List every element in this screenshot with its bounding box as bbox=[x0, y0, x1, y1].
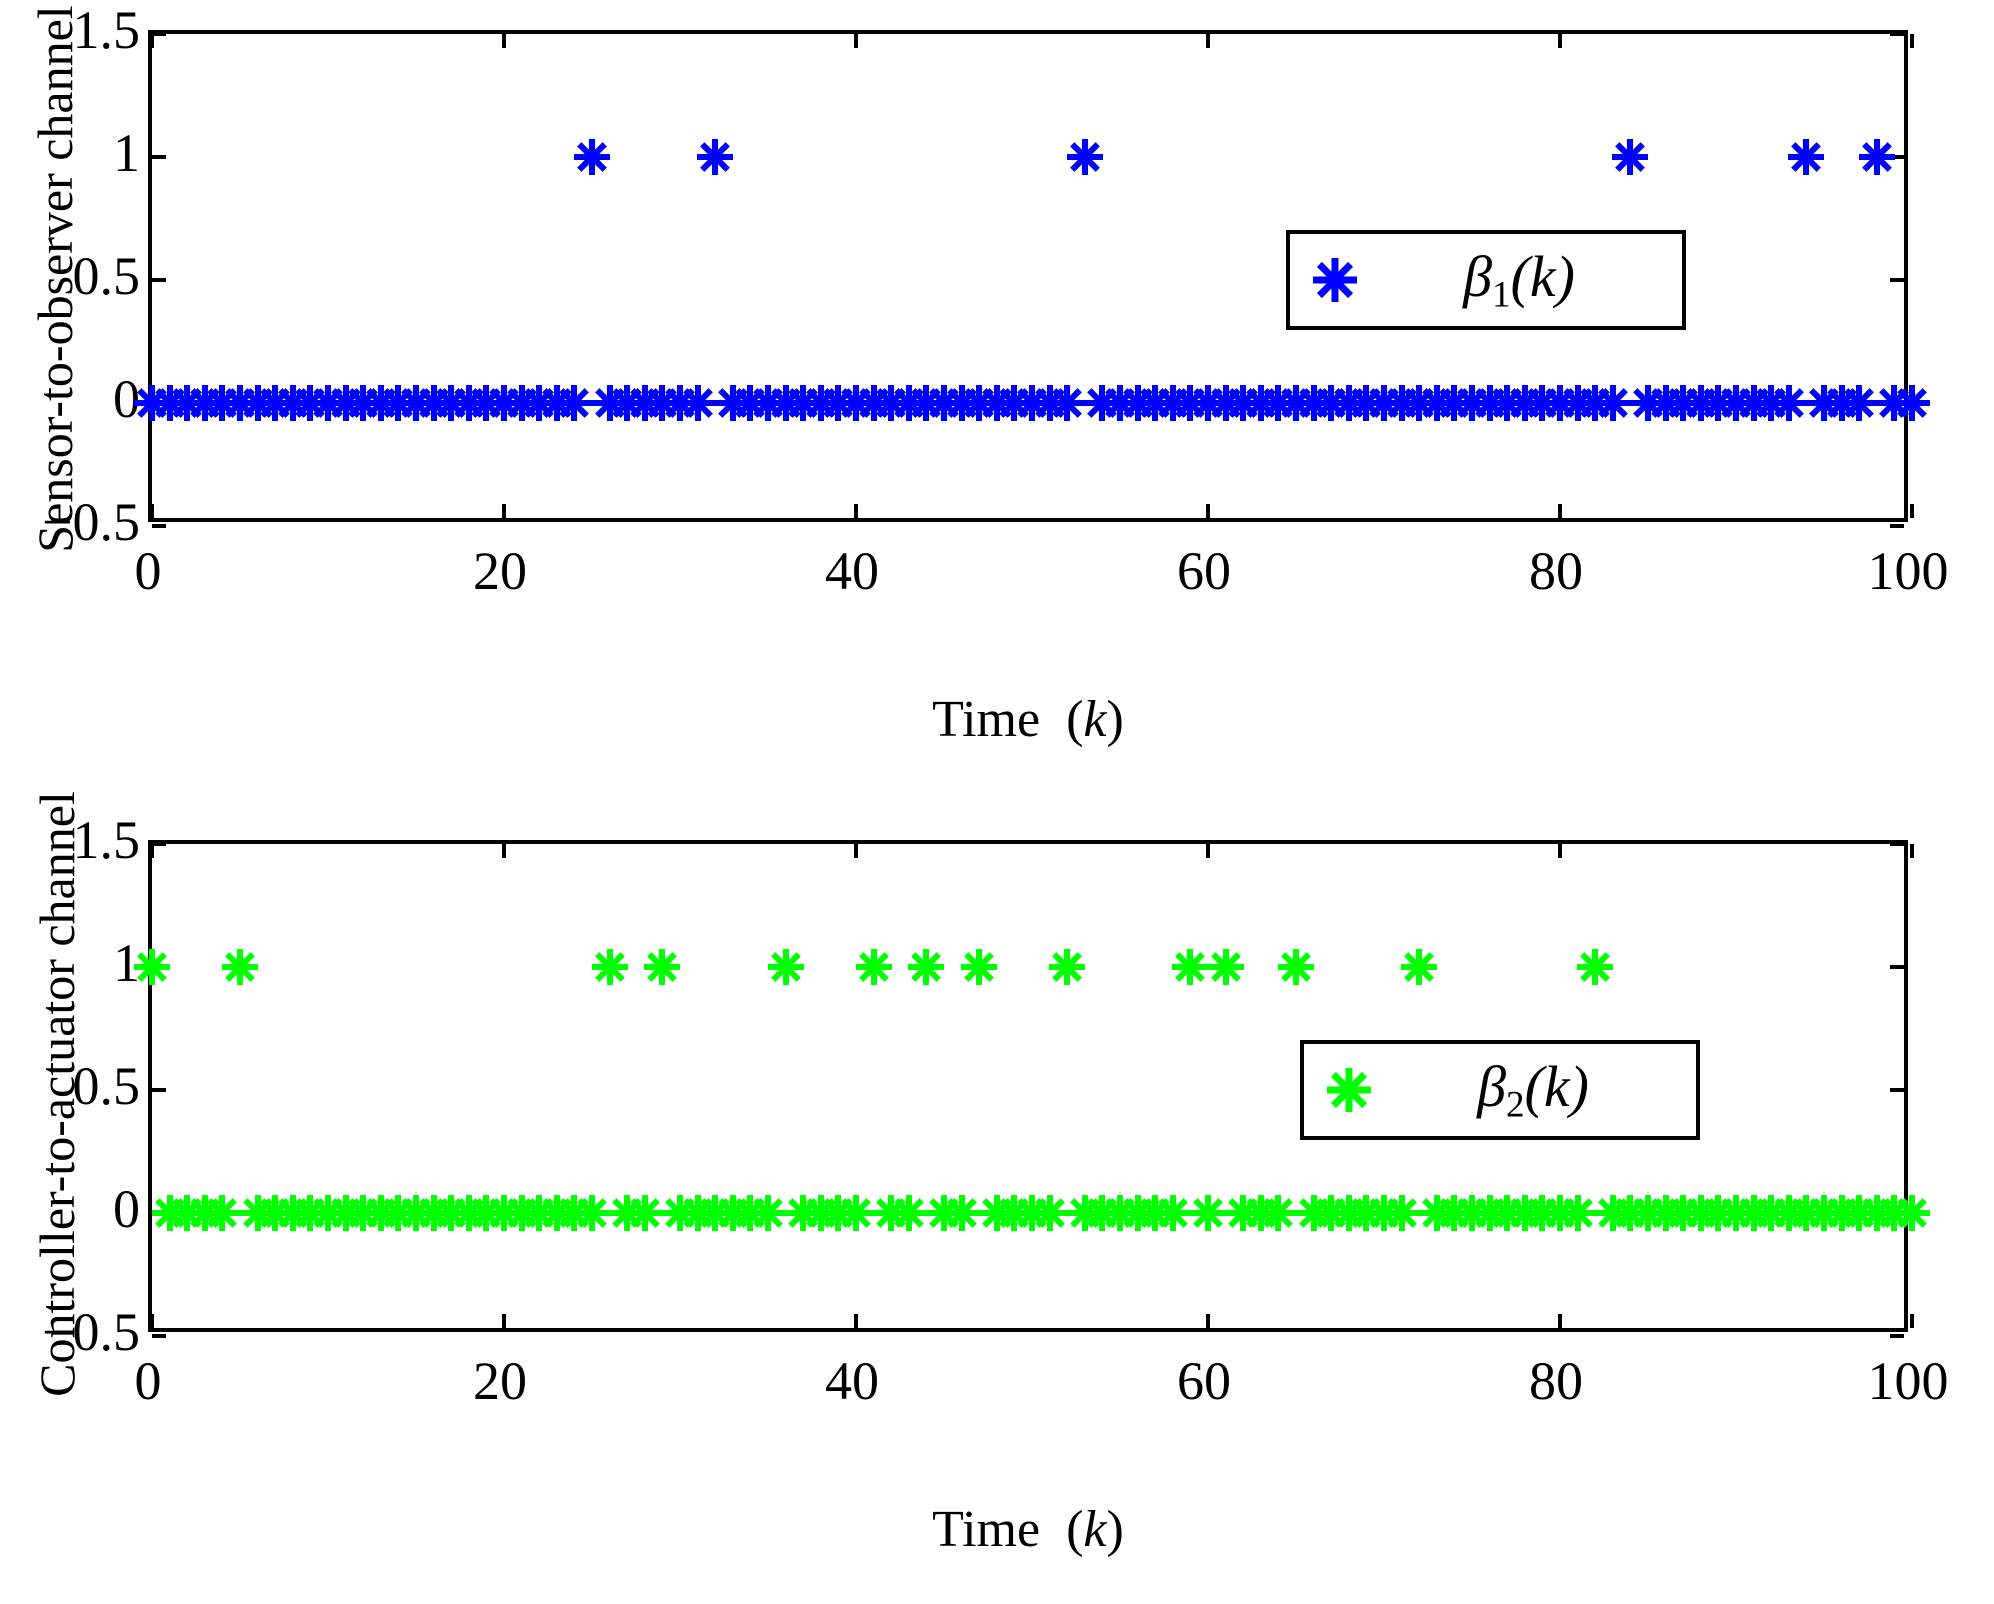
data-point bbox=[610, 967, 611, 968]
x-axis-label-1: Time (k) bbox=[148, 690, 1908, 749]
asterisk-icon bbox=[1048, 384, 1086, 422]
legend-sub-2: 2 bbox=[1506, 1085, 1525, 1126]
y-tick-label: −0.5 bbox=[42, 495, 140, 549]
data-point bbox=[1877, 157, 1878, 158]
asterisk-icon bbox=[1400, 948, 1438, 986]
y-tick-mark bbox=[1890, 1088, 1904, 1092]
x-tick-mark bbox=[1206, 504, 1210, 518]
x-tick-mark bbox=[1558, 844, 1562, 858]
asterisk-icon bbox=[1326, 1067, 1372, 1113]
asterisk-icon bbox=[1840, 384, 1878, 422]
asterisk-icon bbox=[1787, 138, 1825, 176]
x-tick-label: 40 bbox=[825, 1354, 879, 1408]
x-tick-mark bbox=[854, 1314, 858, 1328]
asterisk-icon bbox=[1189, 1194, 1227, 1232]
asterisk-icon bbox=[1259, 1194, 1297, 1232]
x-axis-label-main-2: Time bbox=[932, 1501, 1040, 1558]
asterisk-icon bbox=[1893, 384, 1931, 422]
asterisk-icon bbox=[591, 948, 629, 986]
data-point bbox=[592, 157, 593, 158]
x-tick-mark bbox=[502, 504, 506, 518]
x-axis-label-2: Time (k) bbox=[148, 1500, 1908, 1559]
x-tick-mark bbox=[150, 1314, 154, 1328]
asterisk-icon bbox=[1312, 257, 1358, 303]
asterisk-icon bbox=[749, 1194, 787, 1232]
x-tick-mark bbox=[1910, 1314, 1914, 1328]
x-tick-mark bbox=[502, 1314, 506, 1328]
y-tick-label: 1 bbox=[113, 126, 140, 180]
x-tick-mark bbox=[1558, 504, 1562, 518]
asterisk-icon bbox=[767, 948, 805, 986]
asterisk-icon bbox=[1576, 948, 1614, 986]
x-axis-label-var-2: k bbox=[1083, 1501, 1106, 1558]
asterisk-icon bbox=[855, 948, 893, 986]
x-tick-mark bbox=[1206, 844, 1210, 858]
data-point bbox=[1208, 1213, 1209, 1214]
asterisk-icon bbox=[133, 948, 171, 986]
y-tick-mark bbox=[1890, 1334, 1904, 1338]
y-tick-mark bbox=[152, 155, 166, 159]
asterisk-icon bbox=[1207, 948, 1245, 986]
data-point bbox=[1859, 403, 1860, 404]
x-axis-label-var-1: k bbox=[1083, 691, 1106, 748]
x-tick-label: 100 bbox=[1868, 544, 1949, 598]
legend-beta-1: β bbox=[1463, 244, 1492, 309]
asterisk-icon bbox=[1171, 948, 1209, 986]
asterisk-icon bbox=[1066, 138, 1104, 176]
x-tick-mark bbox=[1558, 1314, 1562, 1328]
x-tick-mark bbox=[150, 504, 154, 518]
asterisk-icon bbox=[960, 948, 998, 986]
asterisk-icon bbox=[203, 1194, 241, 1232]
x-tick-label: 40 bbox=[825, 544, 879, 598]
x-axis-label-paren-close-1: ) bbox=[1107, 691, 1124, 748]
data-point bbox=[1419, 967, 1420, 968]
y-tick-mark bbox=[152, 278, 166, 282]
asterisk-icon bbox=[1154, 1194, 1192, 1232]
data-point bbox=[1278, 1213, 1279, 1214]
asterisk-icon bbox=[696, 138, 734, 176]
x-tick-label: 20 bbox=[473, 544, 527, 598]
data-point bbox=[1067, 967, 1068, 968]
data-point bbox=[715, 157, 716, 158]
asterisk-icon bbox=[837, 1194, 875, 1232]
x-tick-mark bbox=[1910, 504, 1914, 518]
x-tick-mark bbox=[150, 34, 154, 48]
asterisk-icon bbox=[626, 1194, 664, 1232]
x-tick-mark bbox=[150, 844, 154, 858]
asterisk-icon bbox=[1893, 1194, 1931, 1232]
y-tick-mark bbox=[1890, 32, 1904, 36]
legend-marker-2 bbox=[1304, 1044, 1394, 1136]
data-point bbox=[1613, 403, 1614, 404]
y-tick-label: 1.5 bbox=[73, 3, 141, 57]
data-point bbox=[1226, 967, 1227, 968]
asterisk-icon bbox=[1594, 384, 1632, 422]
x-tick-mark bbox=[854, 844, 858, 858]
x-tick-label: 0 bbox=[135, 1354, 162, 1408]
y-tick-mark bbox=[152, 1334, 166, 1338]
legend-arg-2: (k) bbox=[1525, 1054, 1589, 1119]
data-point bbox=[856, 1213, 857, 1214]
data-point bbox=[1912, 403, 1913, 404]
asterisk-icon bbox=[221, 948, 259, 986]
legend-label-2: β2(k) bbox=[1394, 1053, 1696, 1126]
asterisk-icon bbox=[679, 384, 717, 422]
asterisk-icon bbox=[573, 1194, 611, 1232]
plot-area-1: β1(k) bbox=[148, 30, 1908, 522]
y-tick-label: 1.5 bbox=[73, 813, 141, 867]
data-point bbox=[1402, 1213, 1403, 1214]
data-point bbox=[926, 967, 927, 968]
x-tick-mark bbox=[1206, 1314, 1210, 1328]
data-point bbox=[1173, 1213, 1174, 1214]
y-tick-label: 0.5 bbox=[73, 1059, 141, 1113]
asterisk-icon bbox=[643, 948, 681, 986]
legend-arg-1: (k) bbox=[1511, 244, 1575, 309]
data-point bbox=[1595, 967, 1596, 968]
asterisk-icon bbox=[1277, 948, 1315, 986]
data-point bbox=[768, 1213, 769, 1214]
x-tick-label: 80 bbox=[1529, 544, 1583, 598]
data-point bbox=[645, 1213, 646, 1214]
data-point bbox=[662, 967, 663, 968]
y-tick-label: −0.5 bbox=[42, 1305, 140, 1359]
data-point bbox=[1296, 967, 1297, 968]
panel-controller-to-actuator: Controller-to-actuator channel −0.500.51… bbox=[0, 810, 1994, 1600]
asterisk-icon bbox=[1858, 138, 1896, 176]
x-tick-mark bbox=[1206, 34, 1210, 48]
y-tick-mark bbox=[152, 524, 166, 528]
data-point bbox=[592, 1213, 593, 1214]
x-tick-mark bbox=[502, 34, 506, 48]
x-tick-label: 100 bbox=[1868, 1354, 1949, 1408]
data-point bbox=[1630, 157, 1631, 158]
asterisk-icon bbox=[573, 138, 611, 176]
x-axis-label-paren-open-1: ( bbox=[1053, 691, 1083, 748]
x-tick-label: 80 bbox=[1529, 1354, 1583, 1408]
data-point bbox=[1912, 1213, 1913, 1214]
asterisk-icon bbox=[943, 1194, 981, 1232]
y-tick-mark bbox=[1890, 842, 1904, 846]
x-tick-mark bbox=[854, 34, 858, 48]
data-point bbox=[1578, 1213, 1579, 1214]
data-point bbox=[1050, 1213, 1051, 1214]
data-point bbox=[1806, 157, 1807, 158]
legend-2: β2(k) bbox=[1300, 1040, 1700, 1140]
asterisk-icon bbox=[1383, 1194, 1421, 1232]
legend-marker-1 bbox=[1290, 234, 1380, 326]
asterisk-icon bbox=[555, 384, 593, 422]
asterisk-icon bbox=[1031, 1194, 1069, 1232]
x-tick-mark bbox=[1910, 844, 1914, 858]
asterisk-icon bbox=[890, 1194, 928, 1232]
asterisk-icon bbox=[1770, 384, 1808, 422]
data-point bbox=[1067, 403, 1068, 404]
x-axis-label-paren-close-2: ) bbox=[1107, 1501, 1124, 1558]
x-tick-mark bbox=[854, 504, 858, 518]
y-tick-mark bbox=[152, 1088, 166, 1092]
data-point bbox=[240, 967, 241, 968]
y-tick-mark bbox=[1890, 278, 1904, 282]
asterisk-icon bbox=[1611, 138, 1649, 176]
x-tick-label: 60 bbox=[1177, 1354, 1231, 1408]
x-tick-label: 0 bbox=[135, 544, 162, 598]
data-point bbox=[1190, 967, 1191, 968]
legend-1: β1(k) bbox=[1286, 230, 1686, 330]
data-point bbox=[962, 1213, 963, 1214]
y-tick-mark bbox=[152, 32, 166, 36]
x-tick-mark bbox=[502, 844, 506, 858]
x-tick-mark bbox=[1910, 34, 1914, 48]
y-tick-mark bbox=[1890, 524, 1904, 528]
legend-beta-2: β bbox=[1477, 1054, 1506, 1119]
data-point bbox=[979, 967, 980, 968]
data-point bbox=[698, 403, 699, 404]
panel-sensor-to-observer: Sensor-to-observer channel −0.500.511.5 … bbox=[0, 0, 1994, 760]
data-point bbox=[1085, 157, 1086, 158]
x-axis-label-main-1: Time bbox=[932, 691, 1040, 748]
data-point bbox=[574, 403, 575, 404]
y-tick-label: 0 bbox=[113, 1182, 140, 1236]
data-point bbox=[1789, 403, 1790, 404]
plot-area-2: β2(k) bbox=[148, 840, 1908, 1332]
legend-label-1: β1(k) bbox=[1380, 243, 1682, 316]
legend-sub-1: 1 bbox=[1492, 275, 1511, 316]
y-tick-mark bbox=[1890, 965, 1904, 969]
x-tick-label: 60 bbox=[1177, 544, 1231, 598]
x-tick-mark bbox=[1558, 34, 1562, 48]
asterisk-icon bbox=[1559, 1194, 1597, 1232]
y-tick-label: 0.5 bbox=[73, 249, 141, 303]
data-point bbox=[909, 1213, 910, 1214]
data-point bbox=[152, 967, 153, 968]
figure-root: Sensor-to-observer channel −0.500.511.5 … bbox=[0, 0, 1994, 1604]
data-point bbox=[222, 1213, 223, 1214]
y-tick-mark bbox=[152, 842, 166, 846]
data-point bbox=[786, 967, 787, 968]
asterisk-icon bbox=[1048, 948, 1086, 986]
data-point bbox=[874, 967, 875, 968]
asterisk-icon bbox=[907, 948, 945, 986]
x-tick-label: 20 bbox=[473, 1354, 527, 1408]
x-axis-label-paren-open-2: ( bbox=[1053, 1501, 1083, 1558]
